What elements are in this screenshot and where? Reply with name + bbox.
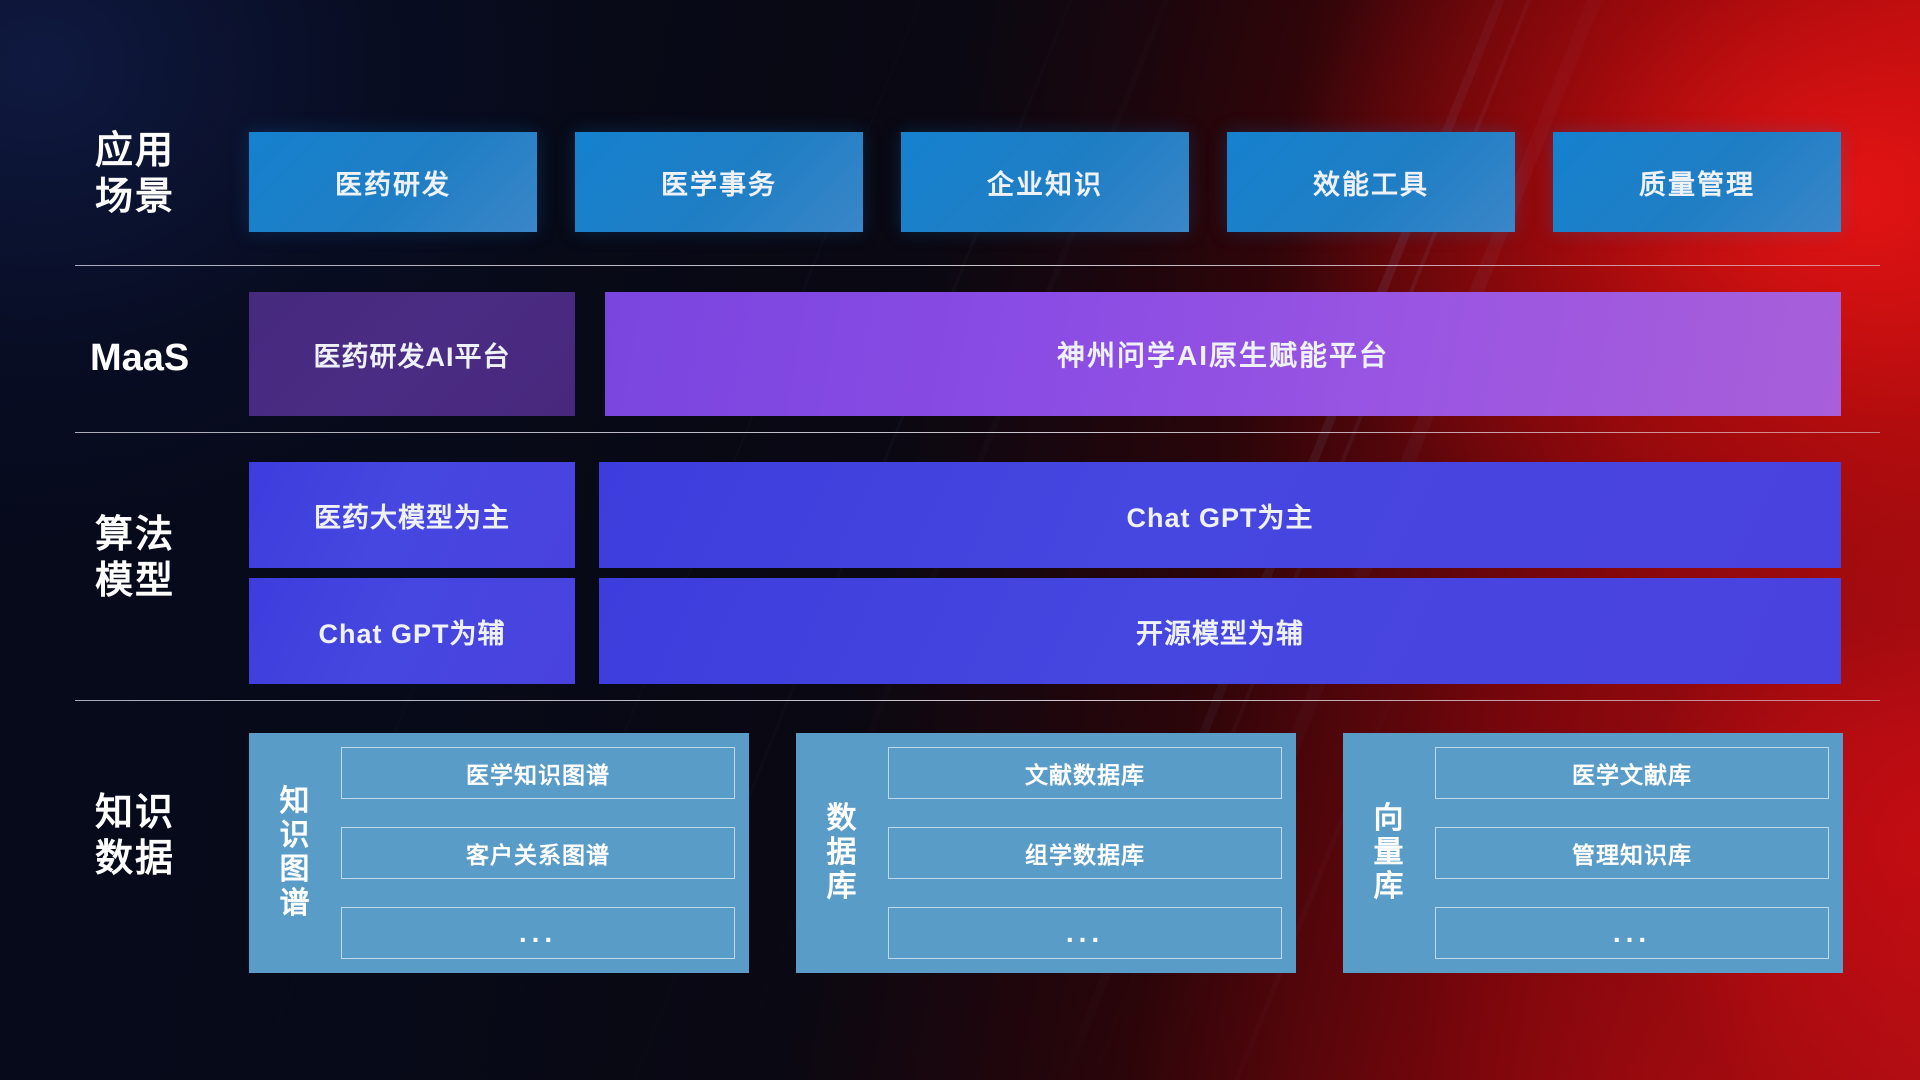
knowledge-item-label: 医学知识图谱 [466, 756, 610, 790]
knowledge-item-label: ... [1613, 917, 1651, 949]
algo-box-medicine-llm-primary[interactable]: 医药大模型为主 [249, 462, 575, 568]
app-box-efficiency-tools[interactable]: 效能工具 [1227, 132, 1515, 232]
row-label-maas: MaaS [90, 335, 270, 381]
app-box-efficiency-tools-label: 效能工具 [1313, 163, 1429, 202]
row-label-application-line2: 场景 [95, 174, 225, 220]
row-label-algorithm-line2: 模型 [95, 558, 225, 604]
knowledge-item-label: ... [1066, 917, 1104, 949]
row-label-application: 应用 场景 [95, 128, 225, 221]
knowledge-item-omics-database[interactable]: 组学数据库 [888, 827, 1282, 879]
row-label-knowledge-line1: 知识 [95, 790, 225, 836]
app-box-medicine-rd-label: 医药研发 [335, 163, 451, 202]
knowledge-item-literature-database[interactable]: 文献数据库 [888, 747, 1282, 799]
app-box-enterprise-knowledge[interactable]: 企业知识 [901, 132, 1189, 232]
kd-title-char: 知 [280, 785, 311, 819]
divider-maas-algorithm [75, 432, 1880, 433]
knowledge-item-label: 管理知识库 [1572, 836, 1692, 870]
row-label-algorithm-line1: 算法 [95, 512, 225, 558]
row-label-maas-text: MaaS [90, 335, 270, 381]
app-box-medical-affairs-label: 医学事务 [661, 163, 777, 202]
knowledge-item-label: 客户关系图谱 [466, 836, 610, 870]
maas-box-medicine-ai-platform-label: 医药研发AI平台 [314, 335, 511, 374]
knowledge-item-more-vector[interactable]: ... [1435, 907, 1829, 959]
kd-title-char: 图 [280, 853, 311, 887]
knowledge-group-knowledge-graph-title: 知 识 图 谱 [263, 785, 327, 922]
row-label-algorithm: 算法 模型 [95, 512, 225, 605]
app-box-quality-management-label: 质量管理 [1639, 163, 1755, 202]
algo-box-chatgpt-secondary-label: Chat GPT为辅 [318, 612, 505, 651]
kd-title-char: 库 [1374, 870, 1405, 904]
maas-box-medicine-ai-platform[interactable]: 医药研发AI平台 [249, 292, 575, 416]
knowledge-group-knowledge-graph[interactable]: 知 识 图 谱 医学知识图谱 客户关系图谱 ... [249, 733, 749, 973]
kd-title-char: 谱 [280, 887, 311, 921]
algo-box-chatgpt-primary-label: Chat GPT为主 [1126, 496, 1313, 535]
kd-title-char: 识 [280, 819, 311, 853]
knowledge-item-medical-knowledge-graph[interactable]: 医学知识图谱 [341, 747, 735, 799]
knowledge-item-label: 医学文献库 [1572, 756, 1692, 790]
row-label-knowledge-line2: 数据 [95, 836, 225, 882]
knowledge-group-database-title: 数 据 库 [810, 802, 874, 905]
app-box-medicine-rd[interactable]: 医药研发 [249, 132, 537, 232]
knowledge-item-label: ... [519, 917, 557, 949]
knowledge-item-medical-literature-store[interactable]: 医学文献库 [1435, 747, 1829, 799]
divider-algorithm-knowledge [75, 700, 1880, 701]
kd-title-char: 数 [827, 802, 858, 836]
app-box-quality-management[interactable]: 质量管理 [1553, 132, 1841, 232]
knowledge-item-label: 组学数据库 [1025, 836, 1145, 870]
architecture-diagram: 应用 场景 医药研发 医学事务 企业知识 效能工具 质量管理 MaaS 医药研发… [0, 0, 1920, 1080]
app-box-enterprise-knowledge-label: 企业知识 [987, 163, 1103, 202]
algo-box-chatgpt-secondary[interactable]: Chat GPT为辅 [249, 578, 575, 684]
knowledge-item-more-database[interactable]: ... [888, 907, 1282, 959]
knowledge-item-label: 文献数据库 [1025, 756, 1145, 790]
row-label-knowledge: 知识 数据 [95, 790, 225, 883]
kd-title-char: 向 [1374, 802, 1405, 836]
kd-title-char: 库 [827, 870, 858, 904]
knowledge-item-more-graph[interactable]: ... [341, 907, 735, 959]
kd-title-char: 据 [827, 836, 858, 870]
algo-box-medicine-llm-primary-label: 医药大模型为主 [314, 496, 510, 535]
algo-box-opensource-secondary-label: 开源模型为辅 [1136, 612, 1304, 651]
row-label-application-line1: 应用 [95, 128, 225, 174]
app-box-medical-affairs[interactable]: 医学事务 [575, 132, 863, 232]
maas-box-shenzhou-wenxue-platform-label: 神州问学AI原生赋能平台 [1057, 334, 1389, 374]
kd-title-char: 量 [1374, 836, 1405, 870]
algo-box-opensource-secondary[interactable]: 开源模型为辅 [599, 578, 1841, 684]
divider-application-maas [75, 265, 1880, 266]
knowledge-group-vector-store[interactable]: 向 量 库 医学文献库 管理知识库 ... [1343, 733, 1843, 973]
maas-box-shenzhou-wenxue-platform[interactable]: 神州问学AI原生赋能平台 [605, 292, 1841, 416]
knowledge-item-customer-relation-graph[interactable]: 客户关系图谱 [341, 827, 735, 879]
knowledge-group-database[interactable]: 数 据 库 文献数据库 组学数据库 ... [796, 733, 1296, 973]
algo-box-chatgpt-primary[interactable]: Chat GPT为主 [599, 462, 1841, 568]
knowledge-group-vector-store-title: 向 量 库 [1357, 802, 1421, 905]
knowledge-item-management-knowledge-store[interactable]: 管理知识库 [1435, 827, 1829, 879]
